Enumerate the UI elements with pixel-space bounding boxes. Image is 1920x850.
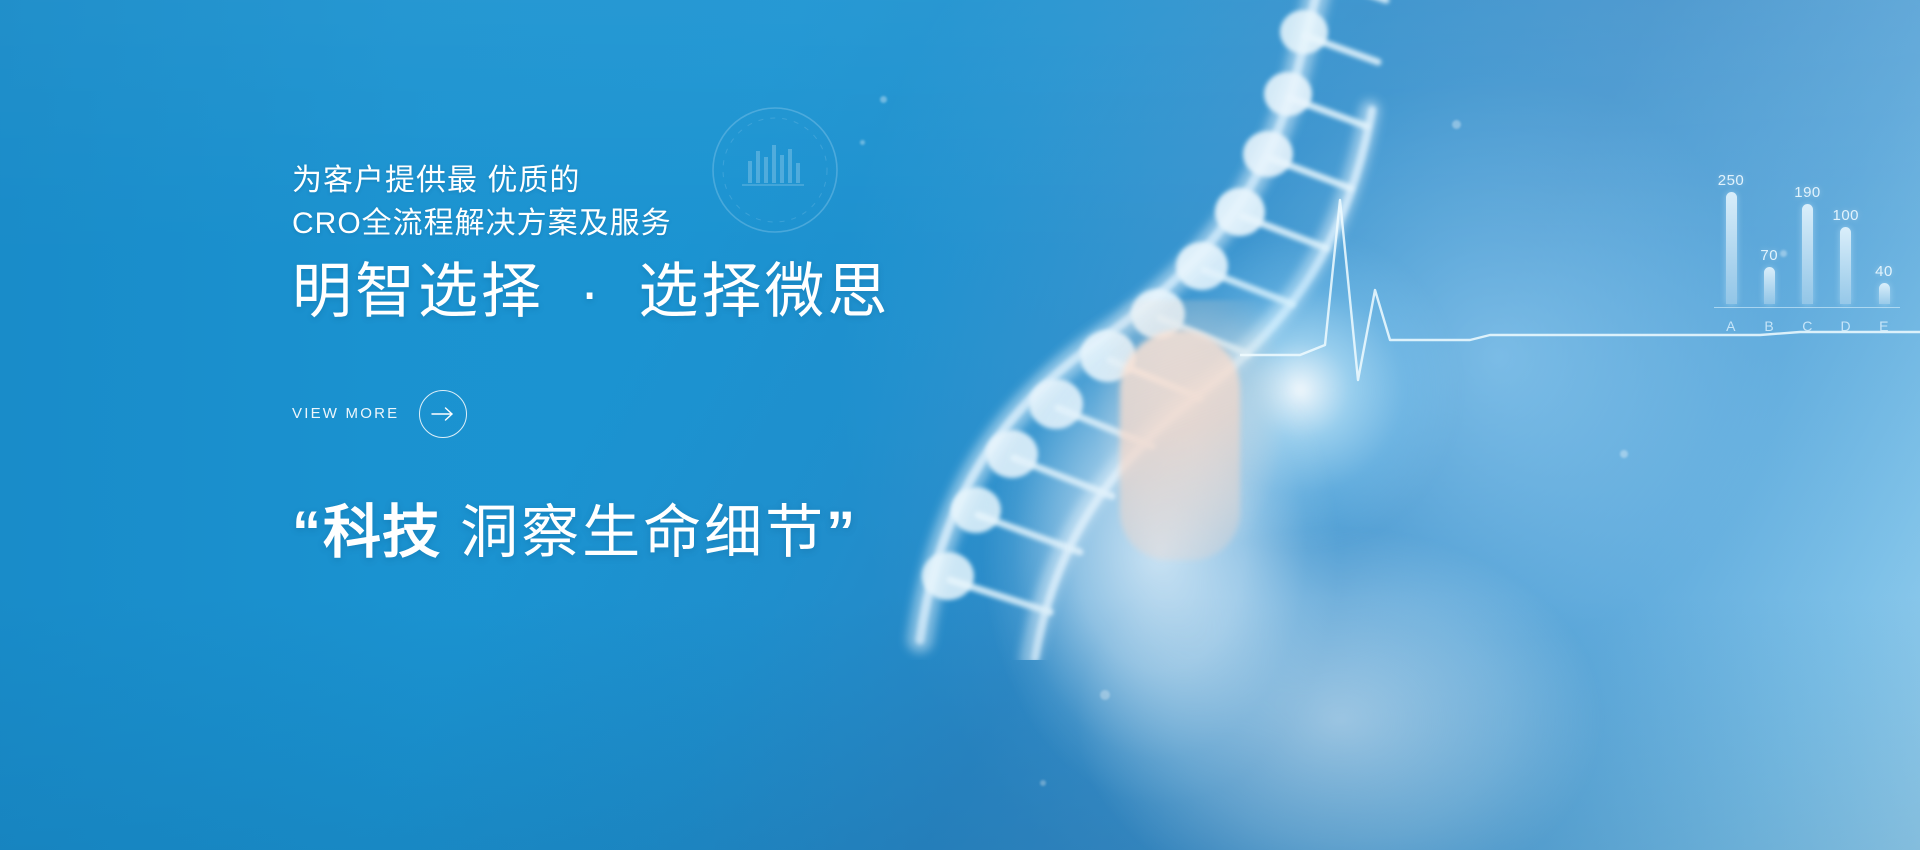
headline-left: 明智选择	[292, 258, 544, 325]
hero-content: 为客户提供最 优质的 CRO全流程解决方案及服务 明智选择 · 选择微思 VIE…	[292, 160, 1192, 568]
hero-banner: 250 70 190 100 40 A B C	[0, 0, 1920, 850]
headline-right: 选择微思	[638, 258, 890, 325]
page-title: 明智选择 · 选择微思	[292, 257, 1192, 328]
hero-quote: “科技 洞察生命细节”	[292, 498, 1192, 568]
subtitle-line-1: 为客户提供最 优质的	[292, 160, 1192, 203]
hero-subtitle: 为客户提供最 优质的 CRO全流程解决方案及服务	[292, 160, 1192, 245]
arrow-right-icon[interactable]	[419, 390, 467, 438]
subtitle-line-2: CRO全流程解决方案及服务	[292, 203, 1192, 246]
quote-open-mark: “	[292, 500, 323, 565]
view-more-label: VIEW MORE	[292, 405, 399, 422]
quote-light-text: 洞察生命细节	[441, 500, 826, 565]
view-more-button[interactable]: VIEW MORE	[292, 390, 467, 438]
quote-strong-text: 科技	[323, 500, 441, 565]
headline-separator: ·	[564, 258, 619, 325]
quote-close-mark: ”	[826, 500, 857, 565]
